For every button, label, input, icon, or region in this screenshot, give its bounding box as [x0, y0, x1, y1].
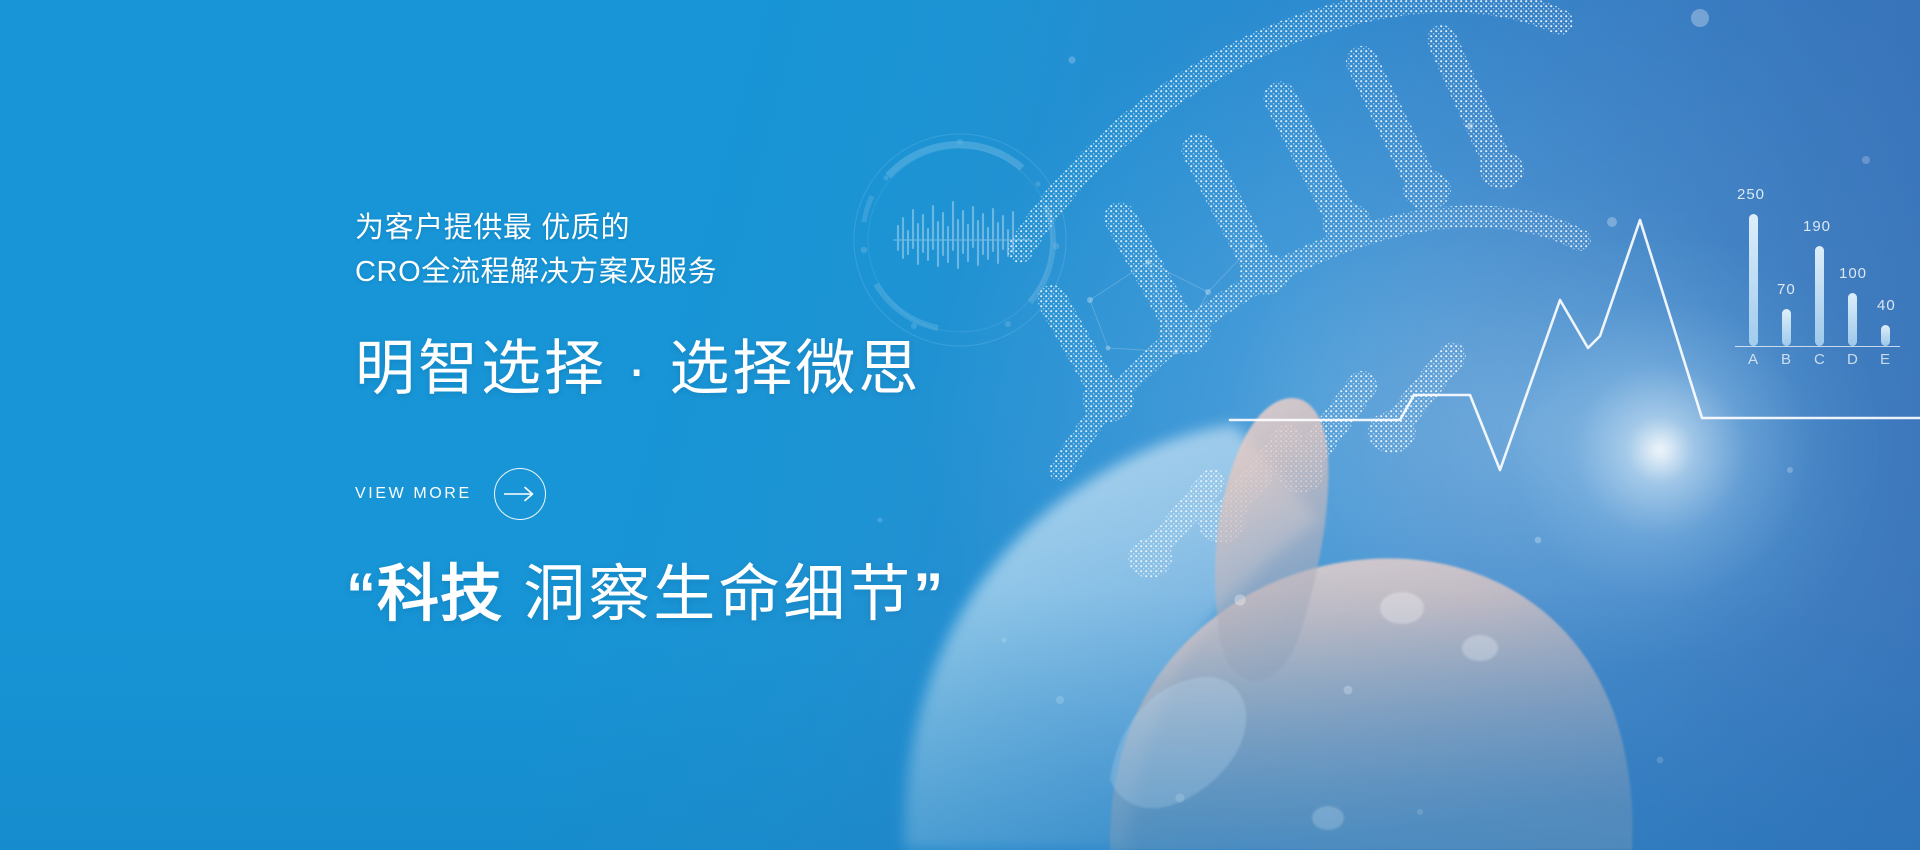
chart-value-D: 100	[1839, 265, 1867, 282]
tagline-close-quote: ”	[913, 561, 944, 628]
chart-bar-B	[1782, 309, 1791, 346]
chart-value-C: 190	[1803, 218, 1831, 235]
hero-banner: 250 70 190 100 40 A B C D E 为客户提供最 优质的 C…	[0, 0, 1920, 850]
view-more-button[interactable]: VIEW MORE	[355, 468, 546, 520]
chart-category-E: E	[1880, 351, 1890, 368]
hero-content: 为客户提供最 优质的 CRO全流程解决方案及服务 明智选择 · 选择微思 VIE…	[355, 0, 1115, 850]
chart-bar-C	[1815, 246, 1824, 346]
hero-subtitle-line-1: 为客户提供最 优质的	[355, 212, 630, 244]
chart-bar-D	[1848, 293, 1857, 346]
chart-bar-E	[1881, 325, 1890, 346]
hero-subtitle: 为客户提供最 优质的 CRO全流程解决方案及服务	[355, 206, 717, 294]
hero-subtitle-line-2: CRO全流程解决方案及服务	[355, 250, 717, 294]
chart-value-E: 40	[1877, 297, 1896, 314]
overlay-bar-chart: 250 70 190 100 40 A B C D E	[1735, 185, 1900, 380]
chart-value-A: 250	[1737, 186, 1765, 203]
chart-bar-A	[1749, 214, 1758, 346]
hero-tagline: “科技 洞察生命细节”	[346, 555, 944, 635]
tagline-strong-text: 科技	[377, 560, 503, 629]
view-more-label: VIEW MORE	[355, 485, 472, 503]
chart-category-A: A	[1748, 351, 1758, 368]
chart-category-D: D	[1847, 351, 1858, 368]
chart-category-B: B	[1781, 351, 1791, 368]
tagline-open-quote: “	[346, 561, 377, 628]
arrow-right-icon[interactable]	[494, 468, 546, 520]
chart-value-B: 70	[1777, 281, 1796, 298]
hero-headline: 明智选择 · 选择微思	[355, 333, 921, 405]
chart-category-C: C	[1814, 351, 1825, 368]
tagline-light-text: 洞察生命细节	[503, 560, 913, 629]
